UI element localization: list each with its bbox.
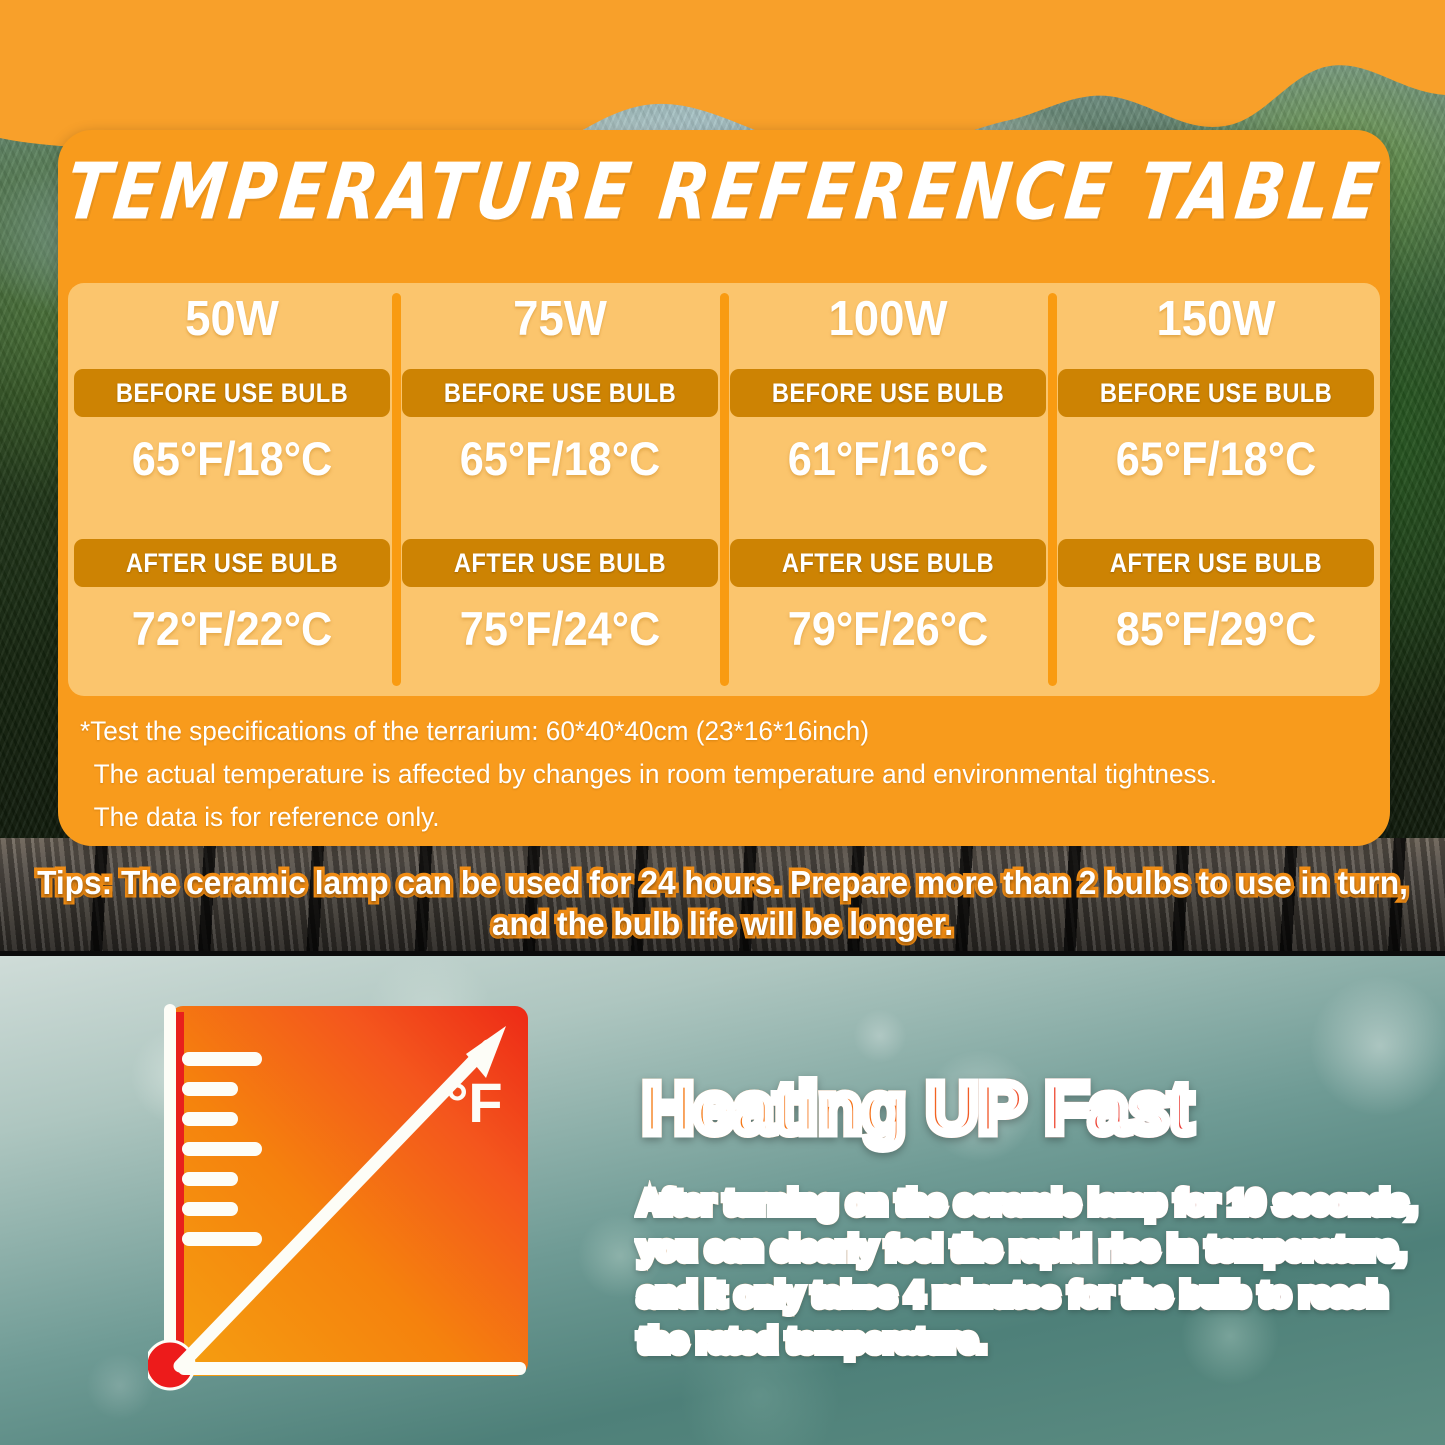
after-use-bulb-bar: AFTER USE BULB bbox=[730, 539, 1046, 587]
after-use-bulb-value: 85°F/29°C bbox=[1065, 601, 1367, 656]
before-use-bulb-value: 65°F/18°C bbox=[1065, 431, 1367, 486]
after-use-bulb-value: 79°F/26°C bbox=[737, 601, 1039, 656]
after-use-bulb-label: AFTER USE BULB bbox=[749, 539, 1027, 587]
table-column-100w: 100W BEFORE USE BULB 61°F/16°C AFTER USE… bbox=[724, 283, 1052, 696]
wattage-header: 75W bbox=[407, 291, 712, 347]
footnote-line-2: The actual temperature is affected by ch… bbox=[80, 753, 1331, 796]
body-line-1: After turning on the ceramic lamp for 10… bbox=[638, 1180, 1375, 1226]
body-line-4: the rated temperature. bbox=[638, 1318, 1375, 1364]
column-divider bbox=[720, 293, 729, 686]
temperature-table: 50W BEFORE USE BULB 65°F/18°C AFTER USE … bbox=[68, 283, 1380, 696]
before-use-bulb-label: BEFORE USE BULB bbox=[749, 369, 1027, 417]
body-line-3: and it only takes 4 minutes for the bulb… bbox=[638, 1272, 1375, 1318]
before-use-bulb-label: BEFORE USE BULB bbox=[421, 369, 699, 417]
section-divider bbox=[0, 951, 1445, 956]
column-divider bbox=[392, 293, 401, 686]
after-use-bulb-bar: AFTER USE BULB bbox=[1058, 539, 1374, 587]
page-title: TEMPERATURE REFERENCE TABLE bbox=[52, 148, 1395, 238]
after-use-bulb-label: AFTER USE BULB bbox=[1077, 539, 1355, 587]
after-use-bulb-value: 72°F/22°C bbox=[81, 601, 383, 656]
wattage-header: 100W bbox=[735, 291, 1040, 347]
column-divider bbox=[1048, 293, 1057, 686]
heating-up-fast-heading: Heating UP Fast bbox=[642, 1068, 1193, 1150]
before-use-bulb-bar: BEFORE USE BULB bbox=[1058, 369, 1374, 417]
table-column-75w: 75W BEFORE USE BULB 65°F/18°C AFTER USE … bbox=[396, 283, 724, 696]
before-use-bulb-value: 65°F/18°C bbox=[81, 431, 383, 486]
body-line-2: you can clearly feel the rapid rise in t… bbox=[638, 1226, 1375, 1272]
fahrenheit-unit-label: °F bbox=[446, 1071, 503, 1134]
after-use-bulb-bar: AFTER USE BULB bbox=[74, 539, 390, 587]
temperature-reference-card: TEMPERATURE REFERENCE TABLE 50W BEFORE U… bbox=[58, 130, 1390, 846]
before-use-bulb-value: 61°F/16°C bbox=[737, 431, 1039, 486]
before-use-bulb-bar: BEFORE USE BULB bbox=[74, 369, 390, 417]
footnote-line-1: *Test the specifications of the terrariu… bbox=[80, 710, 1331, 753]
after-use-bulb-bar: AFTER USE BULB bbox=[402, 539, 718, 587]
infographic-page: TEMPERATURE REFERENCE TABLE 50W BEFORE U… bbox=[0, 0, 1445, 1445]
before-use-bulb-label: BEFORE USE BULB bbox=[93, 369, 371, 417]
footnote-line-3: The data is for reference only. bbox=[80, 796, 1331, 839]
tips-text: Tips: The ceramic lamp can be used for 2… bbox=[29, 862, 1416, 944]
before-use-bulb-bar: BEFORE USE BULB bbox=[402, 369, 718, 417]
before-use-bulb-value: 65°F/18°C bbox=[409, 431, 711, 486]
wattage-header: 50W bbox=[79, 291, 384, 347]
before-use-bulb-label: BEFORE USE BULB bbox=[1077, 369, 1355, 417]
temperature-rising-chart-icon: °F bbox=[148, 1000, 556, 1392]
footnote: *Test the specifications of the terrariu… bbox=[80, 710, 1331, 839]
after-use-bulb-label: AFTER USE BULB bbox=[93, 539, 371, 587]
tips-line-2: and the bulb life will be longer. bbox=[29, 903, 1416, 944]
heating-description: After turning on the ceramic lamp for 10… bbox=[638, 1180, 1375, 1364]
wattage-header: 150W bbox=[1063, 291, 1368, 347]
after-use-bulb-label: AFTER USE BULB bbox=[421, 539, 699, 587]
after-use-bulb-value: 75°F/24°C bbox=[409, 601, 711, 656]
tips-line-1: Tips: The ceramic lamp can be used for 2… bbox=[29, 862, 1416, 903]
table-column-150w: 150W BEFORE USE BULB 65°F/18°C AFTER USE… bbox=[1052, 283, 1380, 696]
before-use-bulb-bar: BEFORE USE BULB bbox=[730, 369, 1046, 417]
table-column-50w: 50W BEFORE USE BULB 65°F/18°C AFTER USE … bbox=[68, 283, 396, 696]
